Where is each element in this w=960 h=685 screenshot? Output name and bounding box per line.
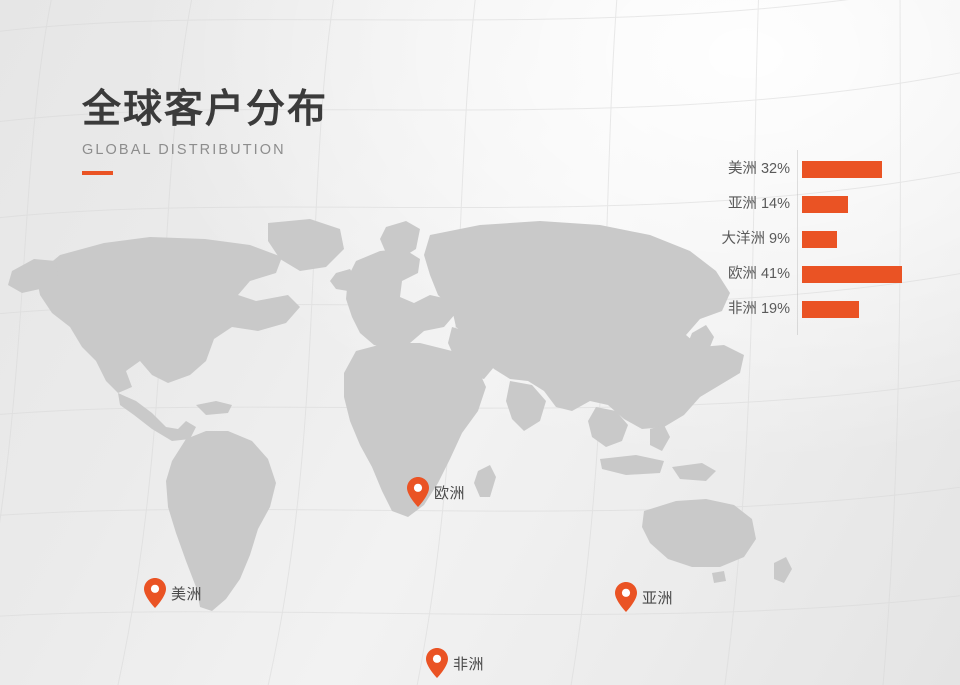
map-pin-asia[interactable]: 亚洲 bbox=[615, 582, 673, 612]
location-pin-icon bbox=[615, 582, 637, 612]
chart-row-bar bbox=[802, 161, 882, 178]
chart-row[interactable]: 非洲 19% bbox=[700, 299, 950, 319]
chart-row-label: 欧洲 41% bbox=[670, 264, 790, 284]
map-pin-label: 欧洲 bbox=[434, 482, 465, 503]
location-pin-icon bbox=[407, 477, 429, 507]
location-pin-icon bbox=[144, 578, 166, 608]
map-pin-africa[interactable]: 非洲 bbox=[426, 648, 484, 678]
map-pin-label: 亚洲 bbox=[642, 587, 673, 608]
island-indonesia-1 bbox=[600, 455, 664, 475]
chart-row[interactable]: 大洋洲 9% bbox=[700, 229, 950, 249]
continent-australia bbox=[642, 499, 756, 567]
chart-row-bar bbox=[802, 196, 848, 213]
map-pin-americas[interactable]: 美洲 bbox=[144, 578, 202, 608]
location-pin-icon bbox=[426, 648, 448, 678]
distribution-bar-chart: 美洲 32% 亚洲 14% 大洋洲 9% 欧洲 41% 非洲 19% bbox=[700, 150, 950, 335]
slide-canvas: 全球客户分布 GLOBAL DISTRIBUTION bbox=[0, 0, 960, 685]
chart-row-bar bbox=[802, 231, 837, 248]
island-philippines bbox=[650, 425, 670, 451]
chart-row-label: 美洲 32% bbox=[670, 159, 790, 179]
chart-row-bar bbox=[802, 301, 859, 318]
continent-north-america bbox=[36, 237, 300, 393]
page-subtitle: GLOBAL DISTRIBUTION bbox=[82, 142, 502, 158]
island-tasmania bbox=[712, 571, 726, 583]
title-block: 全球客户分布 GLOBAL DISTRIBUTION bbox=[82, 88, 502, 175]
chart-row-bar bbox=[802, 266, 902, 283]
island-caribbean bbox=[196, 401, 232, 415]
island-indonesia-2 bbox=[672, 463, 716, 481]
title-accent-rule bbox=[82, 171, 113, 175]
chart-row-label: 非洲 19% bbox=[670, 299, 790, 319]
map-pin-label: 非洲 bbox=[453, 653, 484, 674]
map-pin-label: 美洲 bbox=[171, 583, 202, 604]
chart-row-label: 大洋洲 9% bbox=[670, 229, 790, 249]
page-title: 全球客户分布 bbox=[82, 88, 502, 133]
chart-row[interactable]: 亚洲 14% bbox=[700, 194, 950, 214]
island-new-zealand bbox=[774, 557, 792, 583]
chart-row[interactable]: 欧洲 41% bbox=[700, 264, 950, 284]
continent-central-america bbox=[118, 393, 196, 441]
island-madagascar bbox=[474, 465, 496, 497]
chart-row[interactable]: 美洲 32% bbox=[700, 159, 950, 179]
map-pin-europe[interactable]: 欧洲 bbox=[407, 477, 465, 507]
chart-row-label: 亚洲 14% bbox=[670, 194, 790, 214]
